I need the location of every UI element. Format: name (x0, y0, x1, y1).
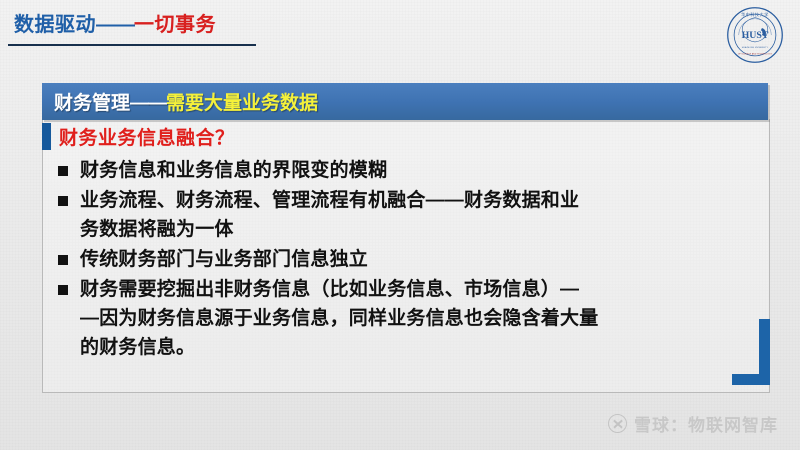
section-header-dash: —— (130, 93, 166, 114)
square-bullet-icon (58, 196, 68, 206)
slide-content-frame: 财务管理——需要大量业务数据 财务业务信息融合？ 财务信息和业务信息的界限变的模… (28, 83, 770, 393)
subheading-row: 财务业务信息融合？ (42, 123, 235, 150)
watermark-text: 雪球：物联网智库 (634, 411, 778, 436)
page-title: 数据驱动——一切事务 (14, 8, 216, 37)
list-item: 财务信息和业务信息的界限变的模糊 (54, 156, 760, 185)
section-header-text: 财务管理——需要大量业务数据 (54, 88, 318, 115)
corner-bracket-decoration (732, 319, 770, 385)
list-item-line: 财务需要挖掘出非财务信息（比如业务信息、市场信息）— (80, 275, 760, 304)
svg-text:HUAZHONG UNIVERSITY: HUAZHONG UNIVERSITY (742, 46, 769, 49)
corner-bracket-horizontal (732, 374, 770, 385)
list-item-line: —因为财务信息源于业务信息，同样业务信息也会隐含着大量 (80, 304, 760, 333)
list-item-line: 财务信息和业务信息的界限变的模糊 (80, 156, 760, 185)
list-item: 业务流程、财务流程、管理流程有机融合——财务数据和业 务数据将融为一体 (54, 186, 760, 244)
list-item-line: 的财务信息。 (80, 333, 760, 362)
svg-text:OF SCIENCE AND TECHNOLOGY: OF SCIENCE AND TECHNOLOGY (738, 53, 773, 56)
svg-text:华中科技大学: 华中科技大学 (741, 11, 769, 17)
list-item: 传统财务部门与业务部门信息独立 (54, 245, 760, 274)
list-item: 财务需要挖掘出非财务信息（比如业务信息、市场信息）— —因为财务信息源于业务信息… (54, 275, 760, 362)
section-header-label-yellow: 需要大量业务数据 (166, 93, 318, 114)
subheading-accent-tab (42, 123, 51, 150)
list-item-line: 务数据将融为一体 (80, 215, 760, 244)
university-seal-logo: HUST 华中科技大学 HUAZHONG UNIVERSITY OF SCIEN… (726, 6, 784, 64)
snowball-x-icon (608, 414, 627, 433)
title-underline-rule (8, 44, 256, 46)
square-bullet-icon (58, 285, 68, 295)
page-title-part2: 一切事务 (134, 14, 216, 36)
section-header-label-white: 财务管理 (54, 93, 130, 114)
page-title-dash: —— (96, 14, 134, 36)
subheading-text: 财务业务信息融合？ (59, 123, 235, 150)
square-bullet-icon (58, 166, 68, 176)
square-bullet-icon (58, 255, 68, 265)
section-header-bar: 财务管理——需要大量业务数据 (42, 83, 768, 120)
list-item-line: 传统财务部门与业务部门信息独立 (80, 245, 760, 274)
watermark: 雪球：物联网智库 (608, 411, 778, 436)
bullet-list: 财务信息和业务信息的界限变的模糊 业务流程、财务流程、管理流程有机融合——财务数… (54, 156, 760, 363)
page-title-part1: 数据驱动 (14, 14, 96, 36)
list-item-line: 业务流程、财务流程、管理流程有机融合——财务数据和业 (80, 186, 760, 215)
